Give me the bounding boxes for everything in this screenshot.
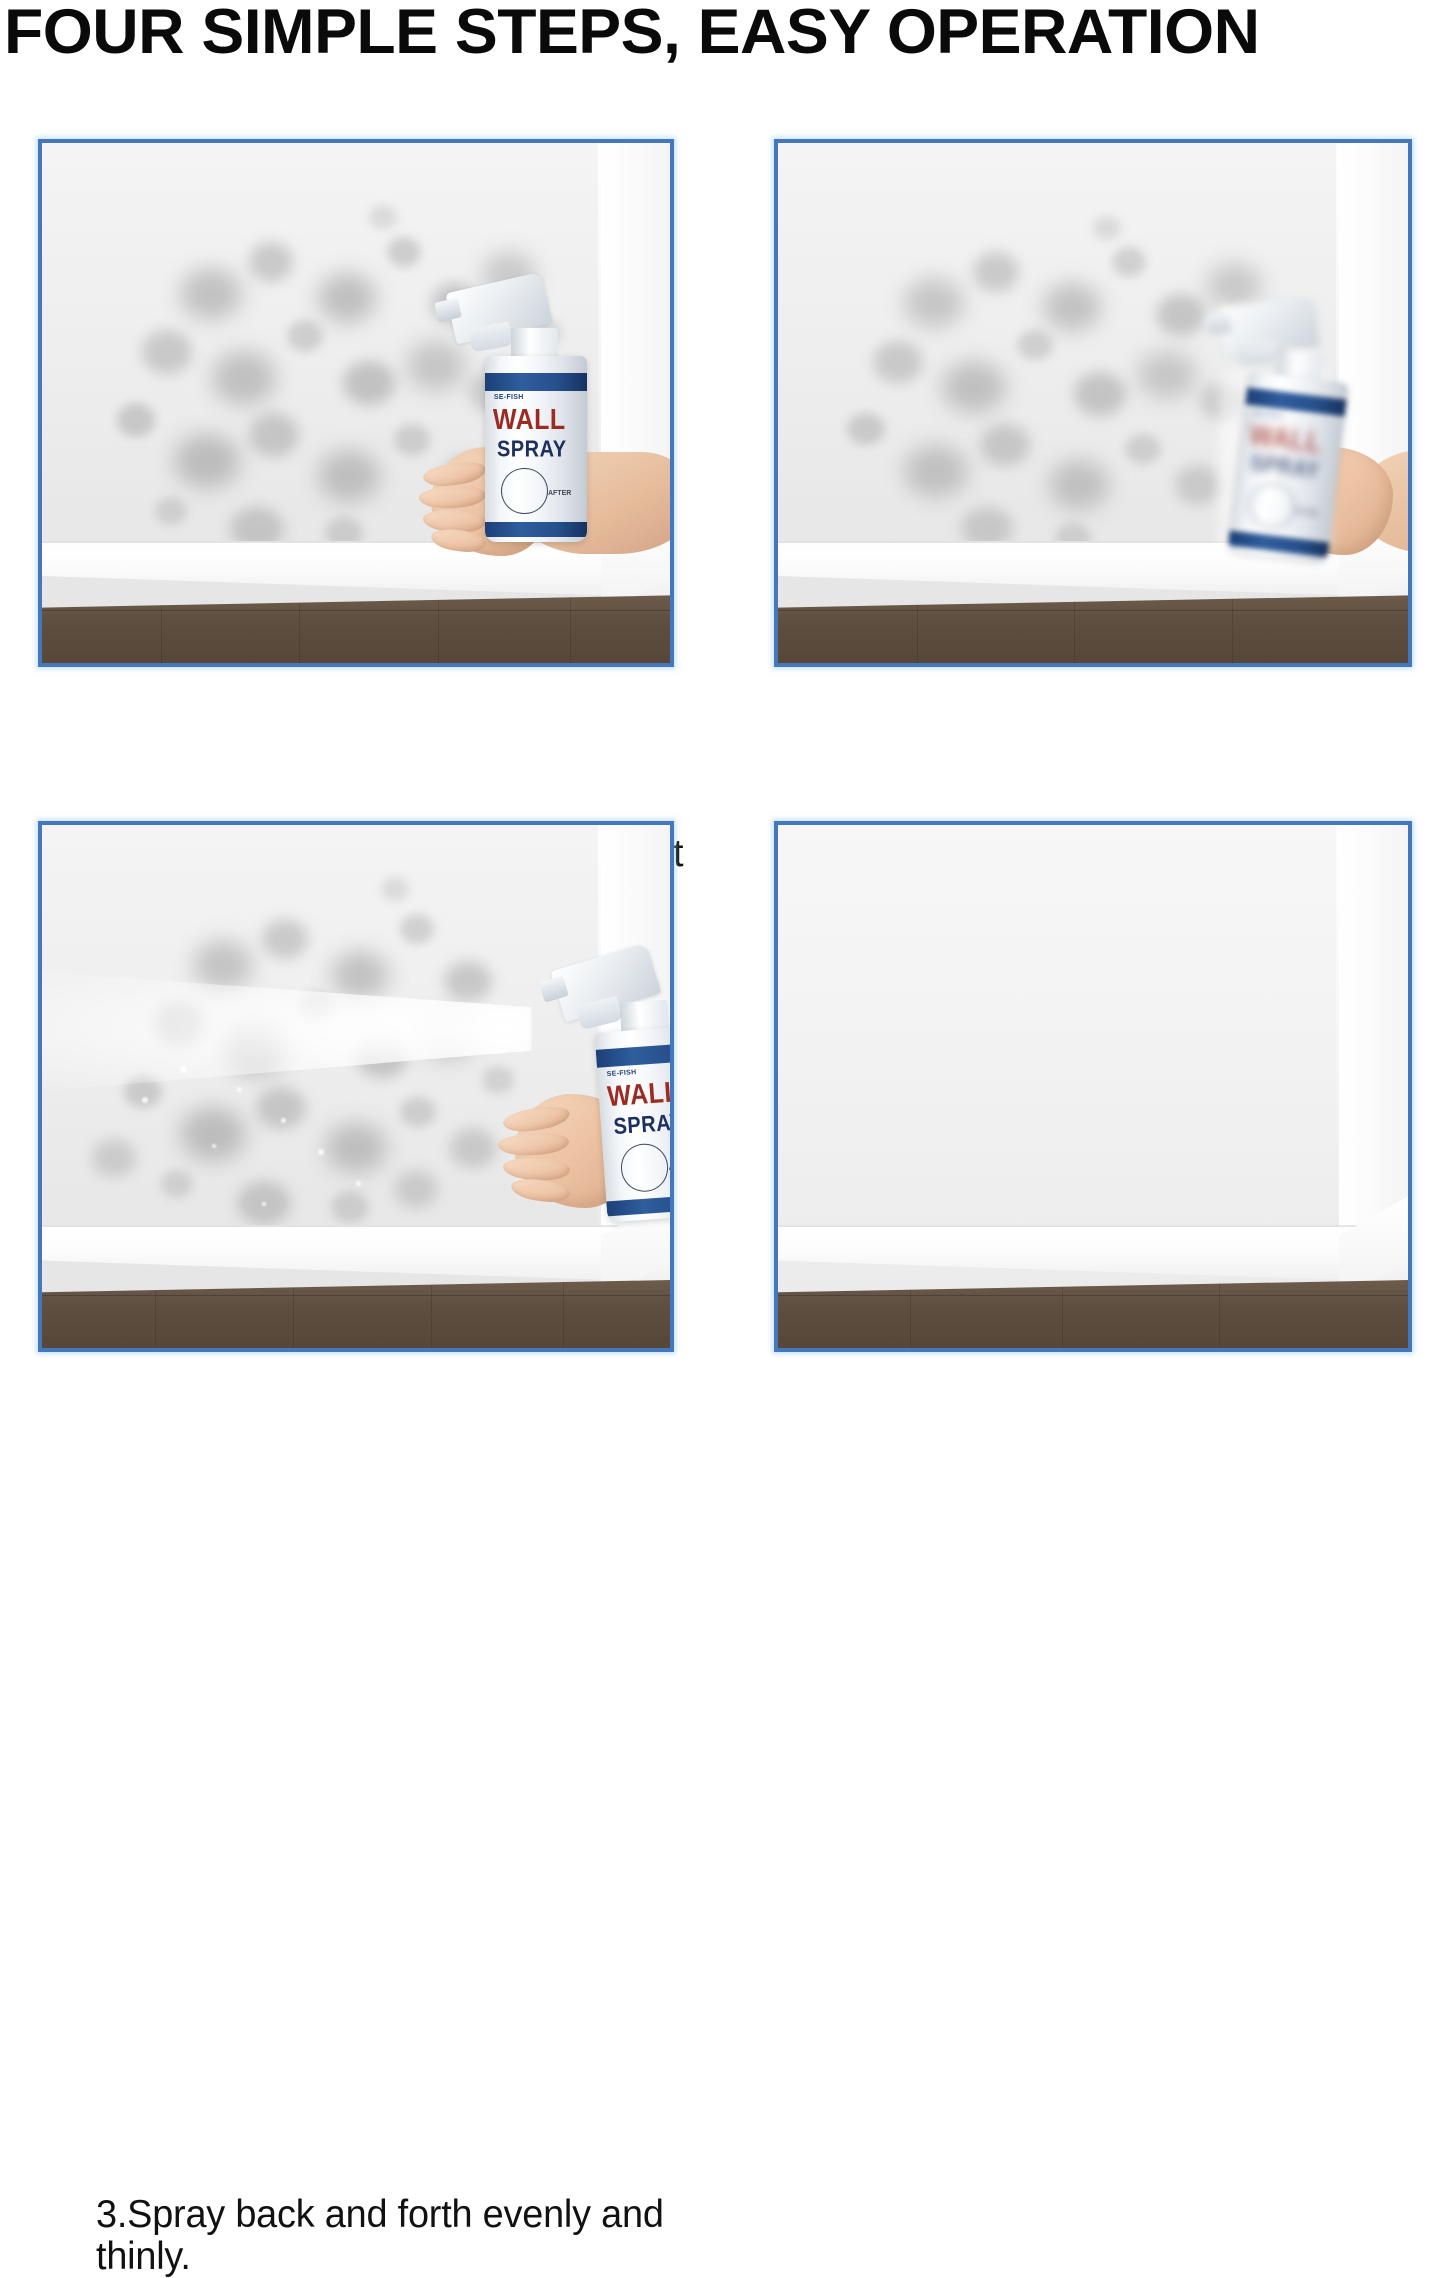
- step-panel-2: SE-FISH WALL SPRAY AFTER 2.Shake the bot…: [774, 139, 1412, 667]
- step-4-photo: [774, 821, 1412, 1352]
- spray-nozzle: [1206, 312, 1232, 334]
- label-band-bottom: [485, 522, 587, 537]
- spray-bottle: SE-FISH WALL SPRAY AFTER: [485, 356, 587, 542]
- steps-grid: SE-FISH WALL SPRAY AFTER 1. Take out the…: [0, 0, 1445, 1458]
- step-4-scene: [778, 825, 1408, 1348]
- step-3-caption: 3.Spray back and forth evenly and thinly…: [96, 2194, 736, 2278]
- step-3-scene: SE-FISH WALL SPRAY AFTER: [42, 825, 670, 1348]
- label-badge: AFTER: [548, 490, 571, 497]
- product-name-line-2: SPRAY: [613, 1110, 670, 1138]
- label-illustration-circle: [619, 1142, 670, 1193]
- step-2-photo: SE-FISH WALL SPRAY AFTER: [774, 139, 1412, 667]
- bottle-neck: [511, 328, 558, 360]
- bottle-body: SE-FISH WALL SPRAY AFTER: [594, 1026, 670, 1223]
- step-1-photo: SE-FISH WALL SPRAY AFTER: [38, 139, 674, 667]
- spray-bottle: SE-FISH WALL SPRAY AFTER: [594, 1026, 670, 1223]
- label-badge: AFTER: [668, 1163, 670, 1172]
- step-panel-4: 4.Allow to dry to get a refurbished wall…: [774, 821, 1412, 1352]
- brand-text: SE-FISH: [1253, 409, 1283, 420]
- bottle-body: SE-FISH WALL SPRAY AFTER: [485, 356, 587, 542]
- step-2-scene: SE-FISH WALL SPRAY AFTER: [778, 143, 1408, 663]
- label-badge: AFTER: [1294, 508, 1318, 518]
- step-3-photo: SE-FISH WALL SPRAY AFTER: [38, 821, 674, 1352]
- label-illustration-circle: [501, 468, 548, 515]
- step-1-scene: SE-FISH WALL SPRAY AFTER: [42, 143, 670, 663]
- product-name-line-2: SPRAY: [497, 438, 567, 461]
- step-panel-1: SE-FISH WALL SPRAY AFTER 1. Take out the…: [38, 139, 674, 667]
- product-name-line-1: WALL: [493, 406, 566, 434]
- label-band-top: [485, 373, 587, 391]
- step-panel-3: SE-FISH WALL SPRAY AFTER 3.Spray back an…: [38, 821, 674, 1352]
- label-band-bottom: [606, 1194, 670, 1216]
- brand-text: SE-FISH: [494, 394, 524, 401]
- label-band-top: [596, 1043, 670, 1068]
- trigger-lever: [1237, 341, 1278, 366]
- product-name-line-1: WALL: [606, 1078, 670, 1111]
- label-illustration-circle: [1246, 481, 1297, 531]
- brand-text: SE-FISH: [606, 1069, 636, 1078]
